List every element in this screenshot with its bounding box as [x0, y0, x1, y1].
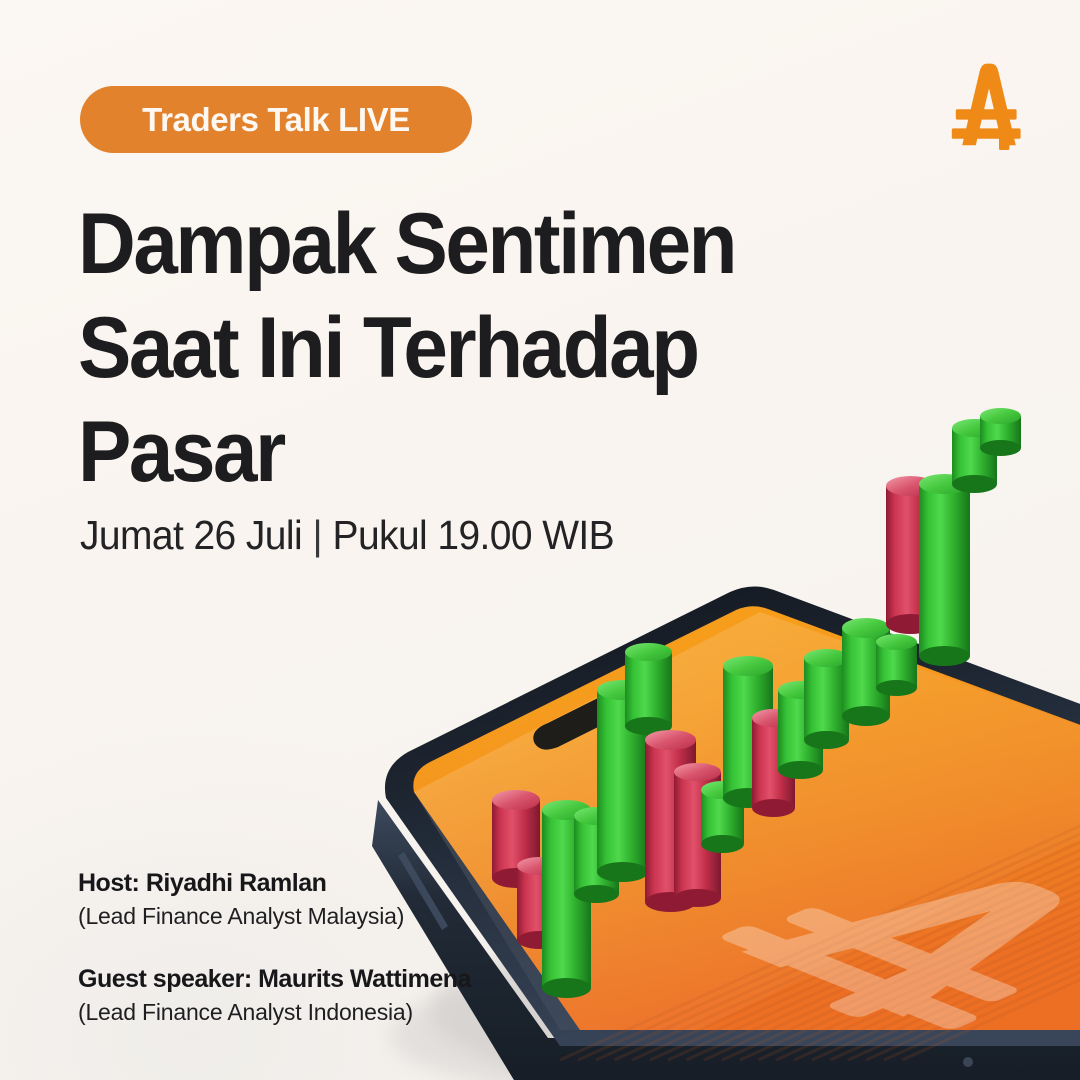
poster-canvas: Traders Talk LIVE Dampak Sentimen Saat I… — [0, 0, 1080, 1080]
headline-line-3: Pasar — [78, 400, 785, 504]
credit-guest: Guest speaker: Maurits Wattimena (Lead F… — [78, 962, 471, 1028]
letter-a-currency-logo-icon — [934, 58, 1032, 158]
speaker-credits: Host: Riyadhi Ramlan (Lead Finance Analy… — [78, 866, 471, 1028]
headline-line-2: Saat Ini Terhadap — [78, 296, 785, 400]
host-name: Host: Riyadhi Ramlan — [78, 866, 471, 900]
guest-name: Guest speaker: Maurits Wattimena — [78, 962, 471, 996]
page-title: Dampak Sentimen Saat Ini Terhadap Pasar — [78, 192, 785, 504]
live-badge-label: Traders Talk LIVE — [142, 101, 410, 139]
datetime-separator: | — [313, 512, 323, 559]
host-role: (Lead Finance Analyst Malaysia) — [78, 900, 471, 932]
event-time: Pukul 19.00 WIB — [333, 512, 615, 558]
event-datetime: Jumat 26 Juli|Pukul 19.00 WIB — [80, 512, 614, 559]
guest-role: (Lead Finance Analyst Indonesia) — [78, 996, 471, 1028]
live-badge[interactable]: Traders Talk LIVE — [80, 86, 472, 153]
event-date: Jumat 26 Juli — [80, 512, 302, 558]
credit-host: Host: Riyadhi Ramlan (Lead Finance Analy… — [78, 866, 471, 932]
headline-line-1: Dampak Sentimen — [78, 192, 785, 296]
